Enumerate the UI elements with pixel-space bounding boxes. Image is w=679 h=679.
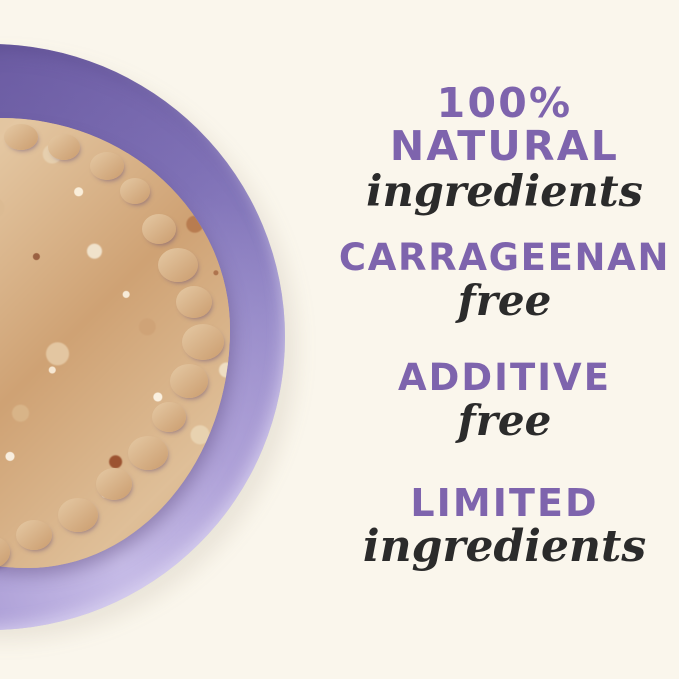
claim-script: ingredients	[330, 525, 679, 570]
claim-heading: 100% NATURAL	[330, 82, 679, 169]
claim-script: ingredients	[330, 171, 679, 215]
claims-list: 100% NATURAL ingredients CARRAGEENAN fre…	[330, 0, 679, 679]
product-feature-graphic: 100% NATURAL ingredients CARRAGEENAN fre…	[0, 0, 679, 679]
claim-natural-ingredients: 100% NATURAL ingredients	[330, 82, 679, 215]
claim-additive-free: ADDITIVE free	[330, 358, 679, 443]
claim-heading: CARRAGEENAN	[330, 238, 679, 277]
claim-heading: LIMITED	[330, 483, 679, 523]
claim-script: free	[330, 400, 679, 443]
claim-limited-ingredients: LIMITED ingredients	[330, 483, 679, 570]
claim-heading-line-1: 100%	[330, 82, 679, 125]
claim-carrageenan-free: CARRAGEENAN free	[330, 238, 679, 323]
claim-heading-line-2: NATURAL	[330, 125, 679, 168]
claim-script: free	[330, 280, 679, 323]
product-photo	[0, 0, 340, 679]
pet-food-mound	[0, 118, 230, 568]
claim-heading: ADDITIVE	[330, 358, 679, 397]
